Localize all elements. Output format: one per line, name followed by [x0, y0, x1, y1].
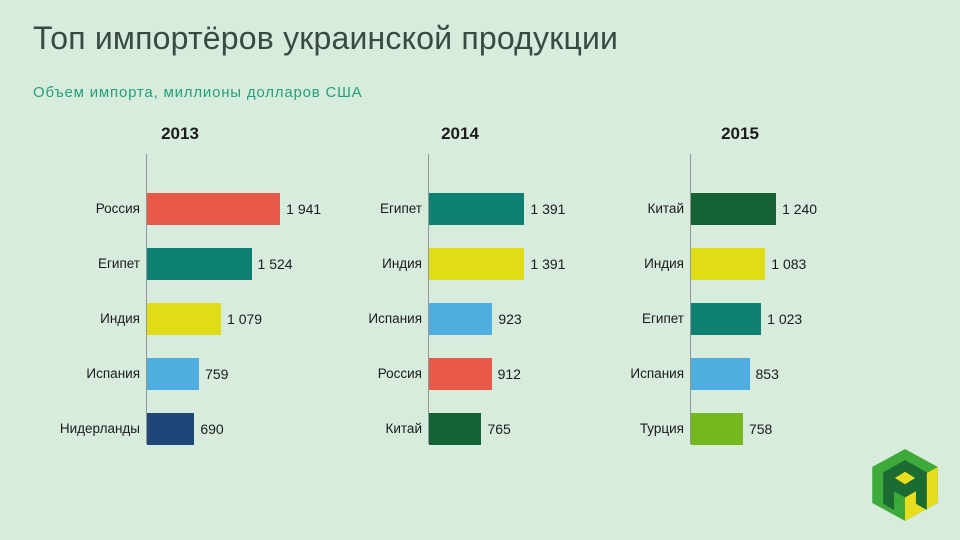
value-label: 1 391: [530, 190, 565, 228]
value-label: 690: [200, 410, 223, 448]
bar-Испания: [429, 303, 492, 335]
bar-Испания: [147, 358, 199, 390]
value-label: 1 023: [767, 300, 802, 338]
panel-year-label: 2013: [20, 124, 340, 144]
bar-Россия: [429, 358, 492, 390]
bar-Турция: [691, 413, 743, 445]
panel-plot-area: Китай1 240Индия1 083Египет1 023Испания85…: [580, 154, 900, 444]
bar-Египет: [147, 248, 252, 280]
category-label: Турция: [580, 410, 684, 448]
category-label: Индия: [580, 245, 684, 283]
bar-row: Турция758: [580, 410, 900, 448]
bar-Испания: [691, 358, 750, 390]
bar-Индия: [691, 248, 765, 280]
value-label: 759: [205, 355, 228, 393]
category-label: Россия: [20, 190, 140, 228]
bar-row: Египет1 023: [580, 300, 900, 338]
value-label: 765: [487, 410, 510, 448]
hexagon-cube-logo-icon: [866, 446, 944, 524]
panel-year-label: 2015: [580, 124, 900, 144]
bar-row: Египет1 524: [20, 245, 340, 283]
bar-row: Египет1 391: [300, 190, 620, 228]
value-label: 1 391: [530, 245, 565, 283]
category-label: Индия: [300, 245, 422, 283]
panel-2014: 2014Египет1 391Индия1 391Испания923Росси…: [300, 124, 620, 444]
value-label: 758: [749, 410, 772, 448]
value-label: 1 079: [227, 300, 262, 338]
bar-row: Китай1 240: [580, 190, 900, 228]
bar-Нидерланды: [147, 413, 194, 445]
value-label: 1 083: [771, 245, 806, 283]
category-label: Египет: [580, 300, 684, 338]
bar-row: Нидерланды690: [20, 410, 340, 448]
category-label: Египет: [300, 190, 422, 228]
bar-row: Испания853: [580, 355, 900, 393]
bar-row: Индия1 079: [20, 300, 340, 338]
value-label: 912: [498, 355, 521, 393]
category-label: Нидерланды: [20, 410, 140, 448]
bar-row: Индия1 391: [300, 245, 620, 283]
panel-year-label: 2014: [300, 124, 620, 144]
bar-Индия: [429, 248, 524, 280]
category-label: Египет: [20, 245, 140, 283]
bar-Китай: [691, 193, 776, 225]
bar-row: Испания759: [20, 355, 340, 393]
category-label: Китай: [580, 190, 684, 228]
chart-root: Топ импортёров украинской продукции Объе…: [0, 0, 960, 540]
value-label: 923: [498, 300, 521, 338]
category-label: Россия: [300, 355, 422, 393]
value-label: 853: [756, 355, 779, 393]
category-label: Индия: [20, 300, 140, 338]
bar-Египет: [691, 303, 761, 335]
panel-plot-area: Египет1 391Индия1 391Испания923Россия912…: [300, 154, 620, 444]
category-label: Испания: [300, 300, 422, 338]
category-label: Испания: [20, 355, 140, 393]
value-label: 1 524: [258, 245, 293, 283]
chart-subtitle: Объем импорта, миллионы долларов США: [33, 84, 362, 101]
bar-Индия: [147, 303, 221, 335]
bar-row: Индия1 083: [580, 245, 900, 283]
panel-plot-area: Россия1 941Египет1 524Индия1 079Испания7…: [20, 154, 340, 444]
bar-Россия: [147, 193, 280, 225]
bar-row: Россия1 941: [20, 190, 340, 228]
bar-row: Испания923: [300, 300, 620, 338]
bar-Египет: [429, 193, 524, 225]
bar-row: Россия912: [300, 355, 620, 393]
bar-Китай: [429, 413, 481, 445]
page-title: Топ импортёров украинской продукции: [33, 20, 618, 57]
category-label: Испания: [580, 355, 684, 393]
panel-2013: 2013Россия1 941Египет1 524Индия1 079Испа…: [20, 124, 340, 444]
panel-2015: 2015Китай1 240Индия1 083Египет1 023Испан…: [580, 124, 900, 444]
value-label: 1 240: [782, 190, 817, 228]
bar-row: Китай765: [300, 410, 620, 448]
category-label: Китай: [300, 410, 422, 448]
panels-container: 2013Россия1 941Египет1 524Индия1 079Испа…: [0, 124, 960, 444]
